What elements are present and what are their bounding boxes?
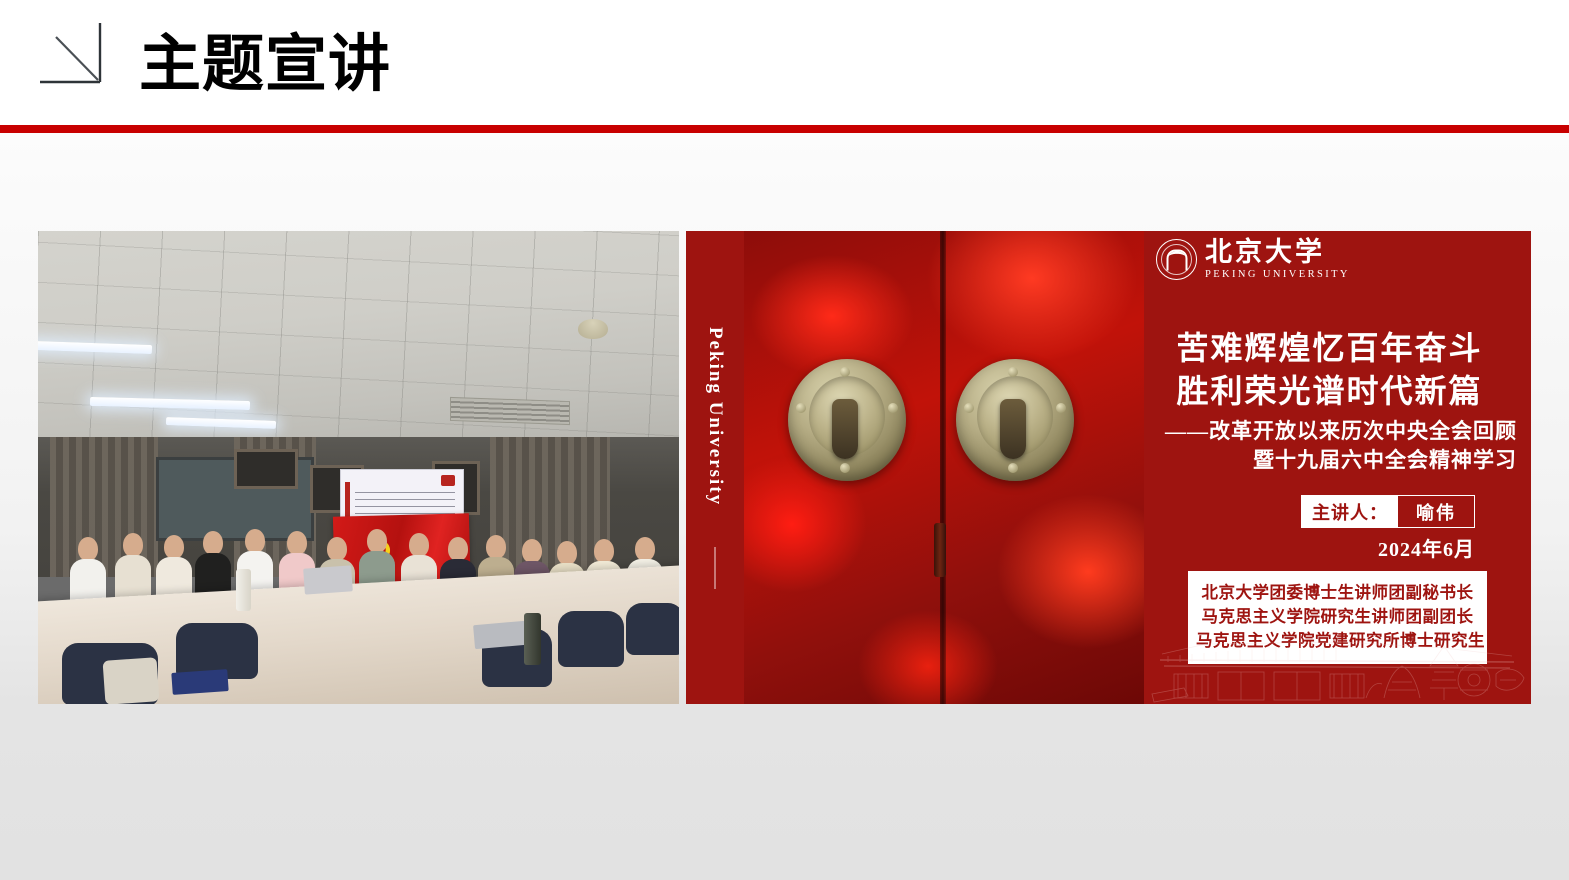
laptop bbox=[303, 565, 353, 594]
poster-subtitle-line-2: 暨十九届六中全会精神学习 bbox=[1165, 446, 1517, 475]
head bbox=[245, 529, 265, 553]
brass-door-knocker bbox=[788, 359, 906, 509]
head bbox=[287, 531, 307, 555]
laptop bbox=[473, 621, 527, 649]
pku-seal-glyph bbox=[1166, 249, 1187, 270]
vertical-brand-text: Peking University bbox=[704, 327, 726, 506]
door-seam bbox=[940, 231, 946, 704]
head bbox=[164, 535, 184, 559]
poster-headline-line-2: 胜利荣光谱时代新篇 bbox=[1144, 370, 1515, 413]
knocker-stud bbox=[1056, 403, 1066, 413]
speaker-label: 主讲人： bbox=[1302, 496, 1398, 527]
thermos bbox=[524, 613, 541, 665]
head bbox=[594, 539, 614, 563]
credential-line: 马克思主义学院党建研究所博士研究生 bbox=[1196, 629, 1479, 653]
head bbox=[367, 529, 387, 553]
head bbox=[557, 541, 577, 565]
slide-header: 主题宣讲 bbox=[0, 0, 1569, 126]
credential-line: 马克思主义学院研究生讲师团副团长 bbox=[1196, 605, 1479, 629]
office-chair bbox=[558, 611, 624, 667]
knocker-ring bbox=[832, 399, 858, 459]
head bbox=[78, 537, 98, 561]
credential-line: 北京大学团委博士生讲师团副秘书长 bbox=[1196, 581, 1479, 605]
red-door-photo bbox=[744, 231, 1144, 704]
head bbox=[635, 537, 655, 561]
notebook bbox=[171, 669, 228, 695]
head bbox=[486, 535, 506, 559]
knocker-stud bbox=[796, 403, 806, 413]
pku-wordmark: 北京大学 PEKING UNIVERSITY bbox=[1205, 239, 1350, 281]
head bbox=[123, 533, 143, 557]
knocker-stud bbox=[840, 367, 850, 377]
knocker-ring bbox=[1000, 399, 1026, 459]
pku-logo: 北京大学 PEKING UNIVERSITY bbox=[1156, 239, 1350, 281]
knocker-stud bbox=[888, 403, 898, 413]
air-vent bbox=[450, 397, 570, 425]
pku-seal-icon bbox=[1156, 239, 1197, 280]
knocker-stud bbox=[1008, 367, 1018, 377]
knocker-stud bbox=[840, 463, 850, 473]
poster-headline: 苦难辉煌忆百年奋斗 胜利荣光谱时代新篇 bbox=[1144, 327, 1515, 413]
speaker-box: 主讲人： 喻伟 bbox=[1301, 495, 1475, 528]
poster-date: 2024年6月 bbox=[1378, 533, 1475, 562]
poster-subtitle-line-1: ——改革开放以来历次中央全会回顾 bbox=[1165, 417, 1517, 446]
group-photo-classroom: ☭ bbox=[38, 231, 679, 704]
vertical-rule bbox=[715, 547, 716, 589]
bag bbox=[103, 657, 160, 704]
page-footer-area bbox=[0, 705, 1569, 880]
knocker-stud bbox=[964, 403, 974, 413]
water-bottle bbox=[236, 569, 251, 611]
lecture-poster: Peking University bbox=[686, 231, 1531, 704]
header-divider-rule bbox=[0, 125, 1569, 133]
head bbox=[409, 533, 429, 557]
head bbox=[522, 539, 542, 563]
door-hinge bbox=[934, 523, 946, 577]
head bbox=[203, 531, 223, 555]
office-chair bbox=[626, 603, 679, 655]
poster-headline-line-1: 苦难辉煌忆百年奋斗 bbox=[1144, 327, 1515, 370]
corner-arrow-icon bbox=[38, 21, 102, 85]
pku-name-chinese: 北京大学 bbox=[1205, 239, 1350, 266]
poster-text-panel: 北京大学 PEKING UNIVERSITY 苦难辉煌忆百年奋斗 胜利荣光谱时代… bbox=[1144, 231, 1531, 704]
smoke-detector-icon bbox=[578, 319, 608, 339]
poster-spine: Peking University bbox=[686, 231, 744, 704]
poster-subtitle: ——改革开放以来历次中央全会回顾 暨十九届六中全会精神学习 bbox=[1165, 417, 1517, 475]
brass-door-knocker bbox=[956, 359, 1074, 509]
pku-name-english: PEKING UNIVERSITY bbox=[1205, 270, 1350, 281]
head bbox=[327, 537, 347, 561]
knocker-stud bbox=[1008, 463, 1018, 473]
speaker-credentials: 北京大学团委博士生讲师团副秘书长 马克思主义学院研究生讲师团副团长 马克思主义学… bbox=[1188, 571, 1487, 664]
page-title: 主题宣讲 bbox=[139, 34, 391, 96]
head bbox=[448, 537, 468, 561]
slide-content-area: ☭ bbox=[0, 133, 1569, 880]
ceiling bbox=[38, 231, 679, 443]
speaker-name: 喻伟 bbox=[1398, 496, 1474, 527]
